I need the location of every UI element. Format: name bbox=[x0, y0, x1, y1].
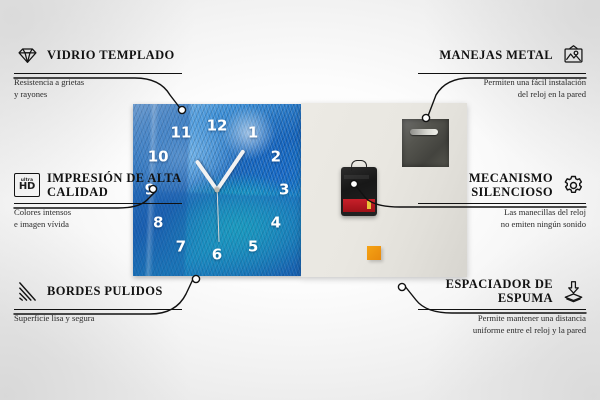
clock-numeral-11: 11 bbox=[170, 126, 191, 141]
clock-numeral-12: 12 bbox=[207, 119, 228, 134]
ultra-hd-icon: ultra HD bbox=[14, 172, 40, 198]
feature-description: Las manecillas del reloj no emiten ningú… bbox=[418, 207, 586, 230]
diamond-icon bbox=[14, 42, 40, 68]
mechanism-label bbox=[343, 199, 375, 212]
hands-center-cap bbox=[215, 188, 220, 193]
metal-hanger-plate bbox=[402, 119, 448, 168]
clock-numeral-1: 1 bbox=[248, 126, 258, 141]
picture-frame-hanger-icon bbox=[560, 42, 586, 68]
mechanism-shine bbox=[344, 175, 370, 179]
clock-numeral-6: 6 bbox=[212, 248, 222, 263]
feature-description: Permite mantener una distancia uniforme … bbox=[418, 313, 586, 336]
marker-bordes bbox=[192, 275, 199, 282]
feature-title: MANEJAS METAL bbox=[439, 48, 553, 62]
feature-description: Resistencia a grietas y rayones bbox=[14, 77, 182, 100]
feature-title: MECANISMO SILENCIOSO bbox=[418, 171, 553, 199]
feature-title: BORDES PULIDOS bbox=[47, 284, 163, 298]
feature-divider bbox=[14, 309, 182, 310]
hanger-slot bbox=[410, 129, 439, 135]
product-image: 12 1 2 3 4 5 6 7 8 9 10 11 bbox=[133, 104, 467, 276]
foam-spacer-arrow-icon bbox=[560, 278, 586, 304]
quartz-mechanism bbox=[341, 167, 378, 216]
clock-numeral-4: 4 bbox=[271, 215, 281, 230]
feature-description: Permiten una fácil instalación del reloj… bbox=[418, 77, 586, 100]
clock-numeral-2: 2 bbox=[271, 150, 281, 165]
clock-numeral-5: 5 bbox=[248, 239, 258, 254]
feature-manejas-metal[interactable]: MANEJAS METAL Permiten una fácil instala… bbox=[418, 40, 586, 100]
clock-numeral-3: 3 bbox=[279, 183, 289, 198]
hd-main-label: HD bbox=[19, 182, 35, 192]
feature-title: ESPACIADOR DE ESPUMA bbox=[418, 277, 553, 305]
feature-divider bbox=[14, 73, 182, 74]
feature-espaciador-espuma[interactable]: ESPACIADOR DE ESPUMA Permite mantener un… bbox=[418, 276, 586, 336]
clock-numeral-10: 10 bbox=[148, 150, 169, 165]
gear-icon bbox=[560, 172, 586, 198]
feature-description: Colores intensos e imagen vívida bbox=[14, 207, 182, 230]
feature-title: VIDRIO TEMPLADO bbox=[47, 48, 175, 62]
feature-mecanismo-silencioso[interactable]: MECANISMO SILENCIOSO Las manecillas del … bbox=[418, 170, 586, 230]
feature-divider bbox=[418, 309, 586, 310]
feature-divider bbox=[418, 203, 586, 204]
infographic-canvas: 12 1 2 3 4 5 6 7 8 9 10 11 bbox=[0, 0, 600, 400]
diagonal-lines-icon bbox=[14, 278, 40, 304]
feature-description: Superficie lisa y segura bbox=[14, 313, 182, 324]
mechanism-loop bbox=[351, 160, 367, 172]
feature-title: IMPRESIÓN DE ALTA CALIDAD bbox=[47, 171, 182, 199]
feature-impresion-alta-calidad[interactable]: ultra HD IMPRESIÓN DE ALTA CALIDAD Color… bbox=[14, 170, 182, 230]
marker-espaciador bbox=[398, 283, 405, 290]
feature-bordes-pulidos[interactable]: BORDES PULIDOS Superficie lisa y segura bbox=[14, 276, 182, 325]
foam-spacer bbox=[367, 246, 380, 260]
feature-divider bbox=[418, 73, 586, 74]
clock-numeral-7: 7 bbox=[176, 239, 186, 254]
feature-vidrio-templado[interactable]: VIDRIO TEMPLADO Resistencia a grietas y … bbox=[14, 40, 182, 100]
feature-divider bbox=[14, 203, 182, 204]
